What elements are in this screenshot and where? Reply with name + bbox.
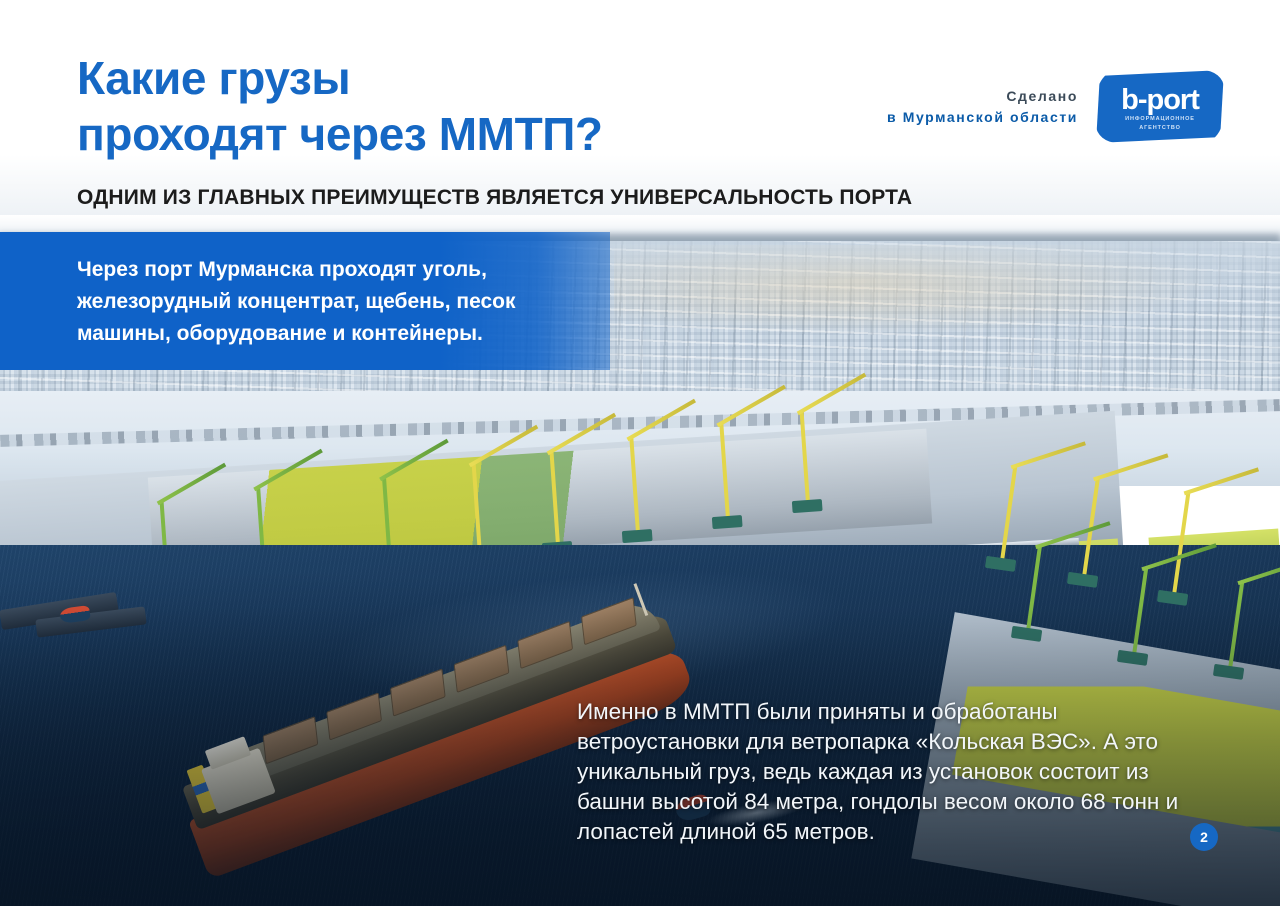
- brand-lockup[interactable]: Сделано в Мурманской области b-port ИНФО…: [887, 70, 1224, 143]
- made-in-line2: в Мурманской области: [887, 107, 1078, 128]
- page-title-line1: Какие грузы: [77, 52, 350, 104]
- blue-callout-box: Через порт Мурманска проходят уголь, жел…: [0, 232, 610, 370]
- callout-text: Через порт Мурманска проходят уголь, жел…: [77, 254, 597, 350]
- page-title: Какие грузы проходят через ММТП?: [77, 50, 777, 162]
- header-band: Какие грузы проходят через ММТП? Сделано…: [0, 0, 1280, 215]
- page-number-badge: 2: [1190, 823, 1218, 851]
- made-in-murmansk-label: Сделано в Мурманской области: [887, 86, 1078, 128]
- bport-tagline-line2: АГЕНТСТВО: [1139, 124, 1181, 132]
- bport-tagline-line1: ИНФОРМАЦИОННОЕ: [1125, 115, 1195, 123]
- page-title-line2: проходят через ММТП?: [77, 106, 777, 162]
- bport-logo-icon[interactable]: b-port ИНФОРМАЦИОННОЕ АГЕНТСТВО: [1096, 70, 1224, 143]
- page-subtitle: ОДНИМ ИЗ ГЛАВНЫХ ПРЕИМУЩЕСТВ ЯВЛЯЕТСЯ УН…: [77, 186, 912, 210]
- bport-wordmark: b-port: [1121, 86, 1199, 114]
- made-in-line1: Сделано: [887, 86, 1078, 107]
- slide: Какие грузы проходят через ММТП? Сделано…: [0, 0, 1280, 906]
- bottom-caption: Именно в ММТП были приняты и обработаны …: [577, 697, 1217, 847]
